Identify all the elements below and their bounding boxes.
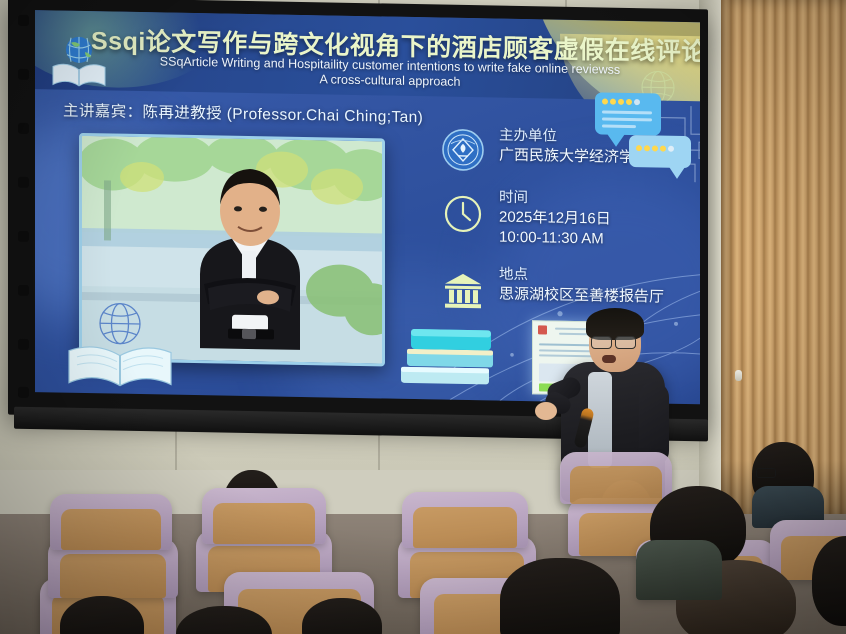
open-book-globe-icon [65,299,175,393]
info-row-time: 时间 2025年12月16日 10:00-11:30 AM [441,188,691,252]
seat[interactable] [560,452,672,504]
time-range: 10:00-11:30 AM [499,228,691,252]
seat[interactable] [202,488,326,544]
university-seal-icon [441,128,485,173]
glasses-left-lens-icon [591,336,612,349]
guest-speaker-line: 主讲嘉宾：陈再进教授 (Professor.Chai Ching;Tan) [63,99,423,128]
seat[interactable] [402,492,528,548]
star-rating-speech-bubble-icon [595,92,700,180]
wall-fixture [735,370,742,381]
screen-tensioner-tabs [18,15,28,405]
presenter-hand-left [535,402,557,420]
glasses-icon [756,468,776,478]
audience-shoulders [636,540,722,600]
glasses-right-lens-icon [615,336,636,349]
clock-icon [441,190,485,235]
seat[interactable] [50,494,172,550]
audience-head [500,558,620,634]
lecture-hall-photo: Ssqi论文写作与跨文化视角下的酒店顾客虚假在线评论意向 SSqArticle … [0,0,846,634]
bank-building-icon [441,267,485,312]
stacked-books-icon [395,317,500,391]
slide-header-banner: Ssqi论文写作与跨文化视角下的酒店顾客虚假在线评论意向 SSqArticle … [35,10,700,101]
presenter-mouth [602,355,616,363]
